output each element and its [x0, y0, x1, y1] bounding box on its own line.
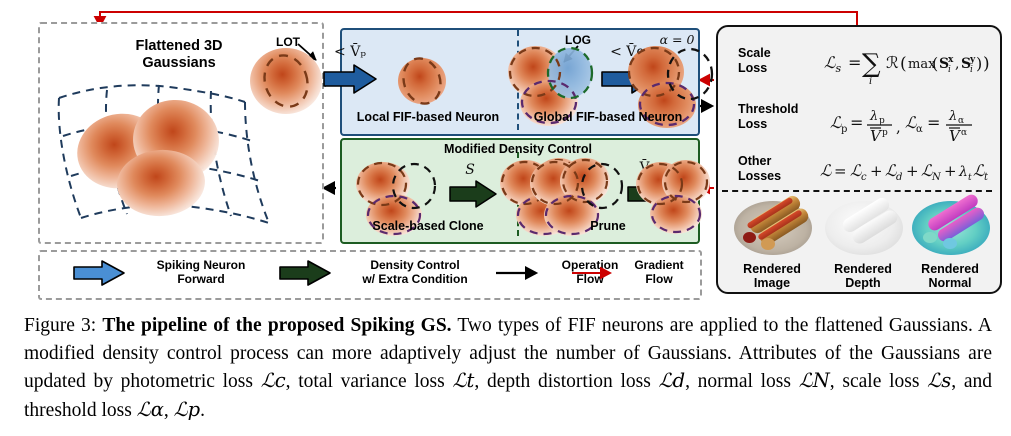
legend-operation-arrow-icon [494, 264, 544, 282]
svg-text:d: d [896, 172, 902, 183]
legend-line2: Forward [138, 272, 264, 286]
density-control-arrow-clone [448, 178, 500, 210]
svg-text:i: i [948, 65, 951, 75]
svg-text:+: + [944, 162, 957, 180]
caption-symbol-lt: ℒt [452, 369, 474, 392]
loss-name-line1: Threshold [738, 102, 830, 117]
svg-text:ℒs: ℒs [824, 53, 842, 75]
svg-text:): ) [976, 54, 982, 73]
render-caption-line2: Depth [815, 276, 911, 290]
svg-text:∑: ∑ [862, 49, 881, 79]
svg-text:): ) [983, 54, 990, 74]
legend-density-control: Density Control w/ Extra Condition [340, 258, 490, 287]
caption-symbol-lc: ℒc [261, 369, 286, 392]
svg-text:λ: λ [958, 164, 968, 180]
legend-line2: Flow [616, 272, 702, 286]
svg-text:(: ( [932, 54, 938, 73]
caption-figure-label: Figure 3: [24, 315, 96, 336]
svg-text:N: N [931, 172, 942, 183]
svg-text:i: i [869, 76, 872, 87]
svg-text:(: ( [900, 54, 907, 74]
legend-spiking-neuron-forward: Spiking Neuron Forward [138, 258, 264, 287]
legend-line1: Gradient [616, 258, 702, 272]
rendered-normal-thumb [909, 198, 993, 258]
legend-line1: Density Control [340, 258, 490, 272]
caption-body-8: . [200, 400, 205, 421]
loss-row-label: Threshold Loss [738, 102, 830, 132]
svg-text:α: α [916, 124, 923, 135]
caption-body-4: , normal loss [685, 371, 799, 392]
svg-text:i: i [970, 65, 973, 75]
render-caption-line1: Rendered [902, 262, 998, 276]
svg-text:p: p [841, 124, 847, 135]
svg-text:+: + [870, 162, 883, 180]
svg-text:,: , [896, 118, 901, 136]
caption-body-3: , depth distortion loss [474, 371, 658, 392]
loss-name-line1: Other [738, 154, 830, 169]
caption-symbol-ln: ℒN [799, 369, 830, 392]
caption-body-2: , total variance loss [286, 371, 453, 392]
svg-text:,: , [955, 56, 959, 72]
svg-text:t: t [984, 172, 989, 183]
svg-text:p: p [882, 128, 888, 138]
scale-based-clone-caption: Scale-based Clone [340, 219, 516, 233]
legend-gradient-flow: Gradient Flow [616, 258, 702, 287]
global-fif-caption: Global FIF-based Neuron [520, 110, 696, 124]
loss-row-label: Scale Loss [738, 46, 822, 76]
svg-text:t: t [968, 173, 972, 183]
loss-name-line1: Scale [738, 46, 822, 61]
legend-gradient-arrow-icon [570, 264, 620, 282]
svg-text:ℒ: ℒ [820, 161, 832, 180]
rendered-depth-caption: Rendered Depth [815, 262, 911, 291]
local-neuron-input-gaussian [250, 48, 322, 114]
svg-text:=: = [834, 162, 847, 180]
render-caption-line1: Rendered [724, 262, 820, 276]
svg-text:x: x [948, 55, 954, 65]
caption-body-5: , scale loss [830, 371, 927, 392]
svg-text:=: = [850, 113, 863, 132]
svg-text:λ: λ [869, 109, 878, 124]
loss-name-line2: Loss [738, 61, 822, 76]
prune-caption: Prune [520, 219, 696, 233]
rendered-depth-thumb [822, 198, 906, 258]
rendered-normal-caption: Rendered Normal [902, 262, 998, 291]
legend-density-arrow-icon [278, 258, 334, 288]
caption-symbol-ld: ℒd [659, 369, 686, 392]
render-caption-line1: Rendered [815, 262, 911, 276]
rendered-image-caption: Rendered Image [724, 262, 820, 291]
render-caption-line2: Normal [902, 276, 998, 290]
local-neuron-condition: < V̄ₚ [320, 44, 380, 60]
density-control-title: Modified Density Control [340, 142, 696, 156]
caption-symbol-lp: ℒp [174, 398, 201, 421]
legend-line2: w/ Extra Condition [340, 272, 490, 286]
other-losses-equation: ℒ = ℒ c + ℒ d + ℒ N + λ t ℒ t [820, 154, 995, 188]
render-caption-line2: Image [724, 276, 820, 290]
svg-text:λ: λ [948, 109, 957, 124]
caption-symbol-la: ℒα [137, 398, 164, 421]
caption-symbol-ls: ℒs [927, 369, 951, 392]
pipeline-figure: Flattened 3D Gaussians LOT [0, 0, 1011, 300]
svg-text:y: y [969, 55, 976, 65]
clone-condition: S [448, 162, 492, 178]
legend-line1: Spiking Neuron [138, 258, 264, 272]
svg-text:=: = [927, 113, 940, 132]
rendered-image-thumb [731, 198, 815, 258]
caption-body-7: , [164, 400, 174, 421]
loss-row-label: Other Losses [738, 154, 830, 184]
threshold-loss-equation: ℒ p = λ p V p , ℒ α = λ α V α [830, 100, 992, 150]
svg-text:c: c [861, 172, 867, 183]
loss-panel-separator [722, 190, 992, 192]
loss-name-line2: Loss [738, 117, 830, 132]
svg-text:ℛ: ℛ [886, 53, 899, 72]
spiking-forward-arrow-local [322, 62, 380, 96]
caption-bold-title: The pipeline of the proposed Spiking GS. [102, 315, 451, 336]
svg-text:=: = [848, 53, 861, 72]
local-neuron-output-gaussian [392, 54, 452, 108]
scale-loss-equation: ℒs = ∑ i ℛ ( max ( S i x , S i y ) ) [824, 42, 992, 88]
figure-caption: Figure 3: The pipeline of the proposed S… [24, 312, 992, 425]
svg-text:α: α [961, 128, 967, 138]
svg-text:+: + [906, 162, 919, 180]
loss-name-line2: Losses [738, 169, 830, 184]
local-fif-caption: Local FIF-based Neuron [340, 110, 516, 124]
legend-spiking-arrow-icon [72, 258, 128, 288]
